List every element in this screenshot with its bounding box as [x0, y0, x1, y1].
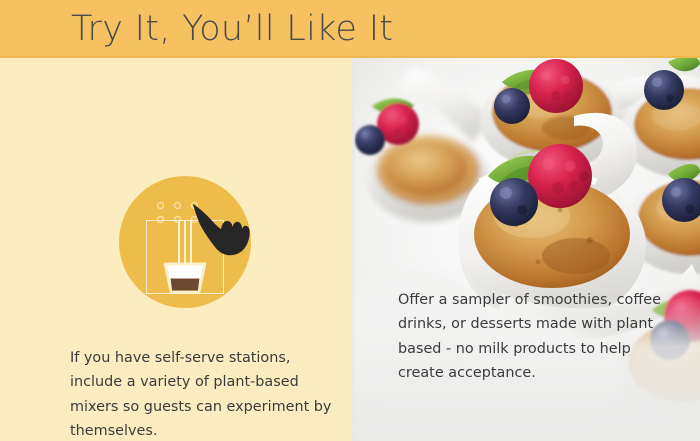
coffee-cup-svg	[163, 262, 207, 294]
right-body-text: Offer a sampler of smoothies, coffee dri…	[398, 288, 673, 385]
pour-stream-line-icon	[184, 221, 186, 265]
left-content-panel: If you have self-serve stations, include…	[0, 58, 352, 441]
header-band: Try It, You’ll Like It	[0, 0, 700, 58]
pointing-hand-icon	[191, 202, 253, 262]
dispenser-button-dot-icon	[157, 202, 164, 209]
page-title: Try It, You’ll Like It	[71, 5, 393, 53]
slide-canvas: Try It, You’ll Like It	[0, 0, 700, 441]
left-body-text: If you have self-serve stations, include…	[70, 346, 332, 441]
self-serve-beverage-dispenser-icon	[119, 176, 251, 308]
coffee-cup-icon	[163, 262, 207, 294]
dispenser-button-dot-icon	[174, 202, 181, 209]
right-content-panel: Offer a sampler of smoothies, coffee dri…	[352, 58, 700, 441]
pour-stream-line-icon	[178, 221, 180, 265]
